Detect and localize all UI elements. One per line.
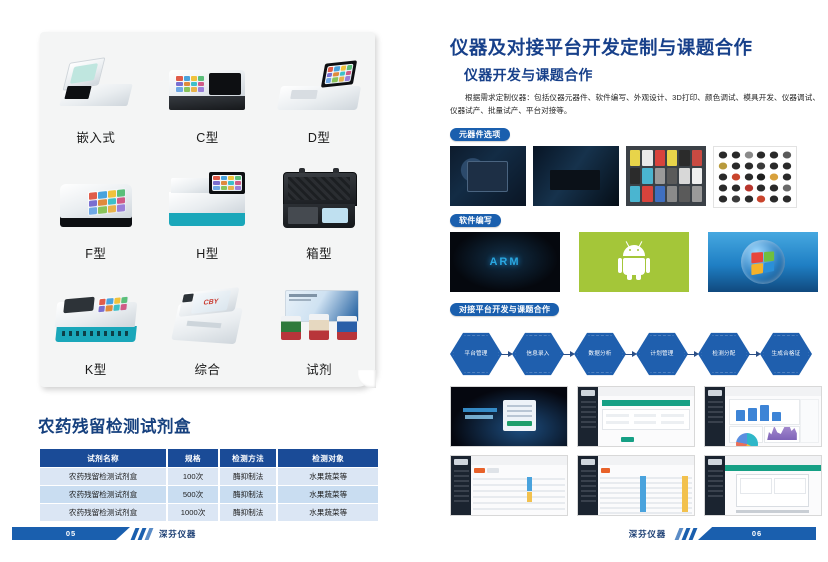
- section-pill-components: 元器件选项: [450, 128, 510, 141]
- page-number: 05: [66, 529, 76, 538]
- page-number-badge: 05: [12, 527, 130, 540]
- section-pill-software: 软件编写: [450, 214, 501, 227]
- table-cell: 农药残留检测试剂盒: [40, 504, 166, 521]
- report-detail-screen-thumb: [704, 455, 822, 516]
- workflow-diagram: 平台管理 信息录入 数据分析 计划管理 检测分配: [450, 330, 822, 378]
- product-cell[interactable]: CBY 综合: [152, 268, 264, 384]
- flow-step-label: 信息录入: [522, 351, 553, 357]
- reagent-kit-icon: [271, 282, 367, 356]
- flow-step-label: 检测分配: [708, 351, 739, 357]
- table-cell: 100次: [168, 468, 218, 485]
- product-cell[interactable]: F型: [40, 152, 152, 268]
- instrument-h-icon: [159, 166, 255, 240]
- page-title: 仪器及对接平台开发定制与课题合作: [450, 34, 752, 60]
- section-paragraph: 根据需求定制仪器：包括仪器元器件、软件编写、外观设计、3D打印、颜色调试、模具开…: [450, 92, 820, 117]
- arm-logo-text: ARM: [450, 256, 560, 268]
- table-cell: 农药残留检测试剂盒: [40, 468, 166, 485]
- flow-step[interactable]: 检测分配: [698, 332, 750, 376]
- product-cell[interactable]: C型: [152, 36, 264, 152]
- flow-step-label: 数据分析: [584, 351, 615, 357]
- data-grid-screen-thumb: [577, 455, 695, 516]
- table-row: 农药残留检测试剂盒 1000次 酶抑制法 水果蔬菜等: [40, 504, 378, 521]
- flow-step-label: 平台管理: [460, 351, 491, 357]
- instrument-embedded-icon: [48, 50, 144, 124]
- instrument-d-icon: [271, 50, 367, 124]
- software-logo-row: ARM: [450, 232, 818, 292]
- product-grid: 嵌入式 C型: [40, 36, 375, 384]
- product-cell[interactable]: H型: [152, 152, 264, 268]
- flow-step[interactable]: 平台管理: [450, 332, 502, 376]
- flow-step[interactable]: 信息录入: [512, 332, 564, 376]
- product-label: H型: [196, 243, 219, 262]
- footer-left: 05 深芬仪器: [12, 527, 196, 540]
- windows-logo-image: [708, 232, 818, 292]
- table-cell: 农药残留检测试剂盒: [40, 486, 166, 503]
- product-label: 试剂: [306, 359, 332, 378]
- flow-step-label: 生成合格证: [768, 351, 805, 357]
- product-cell[interactable]: 嵌入式: [40, 36, 152, 152]
- product-cell[interactable]: 箱型: [263, 152, 375, 268]
- platform-screenshot-grid: [450, 386, 822, 516]
- pcb-board-image: [533, 146, 619, 206]
- product-label: 嵌入式: [76, 127, 115, 146]
- product-label: C型: [196, 127, 219, 146]
- section-subtitle: 仪器开发与课题合作: [464, 65, 593, 85]
- product-label: 箱型: [306, 243, 332, 262]
- android-logo-image: [579, 232, 689, 292]
- product-cell[interactable]: K型: [40, 268, 152, 384]
- instrument-k-icon: [48, 282, 144, 356]
- instrument-case-icon: [271, 166, 367, 240]
- product-label: F型: [85, 243, 106, 262]
- section-pill-platform: 对接平台开发与课题合作: [450, 303, 559, 316]
- table-header-cell: 检测对象: [278, 449, 378, 467]
- component-panel-image: [626, 146, 706, 206]
- product-label: D型: [308, 127, 331, 146]
- right-page: 仪器及对接平台开发定制与课题合作 仪器开发与课题合作 根据需求定制仪器：包括仪器…: [414, 0, 828, 562]
- flow-step[interactable]: 数据分析: [574, 332, 626, 376]
- table-row: 农药残留检测试剂盒 100次 酶抑制法 水果蔬菜等: [40, 468, 378, 485]
- flow-step[interactable]: 生成合格证: [760, 332, 812, 376]
- table-cell: 酶抑制法: [220, 468, 276, 485]
- product-showcase-card: 嵌入式 C型: [40, 32, 375, 387]
- brand-name: 深芬仪器: [159, 528, 196, 540]
- chip-closeup-image: [450, 146, 526, 206]
- table-cell: 酶抑制法: [220, 504, 276, 521]
- table-header-cell: 试剂名称: [40, 449, 166, 467]
- table-cell: 水果蔬菜等: [278, 468, 378, 485]
- reagent-table-title: 农药残留检测试剂盒: [38, 413, 191, 437]
- form-entry-screen-thumb: [577, 386, 695, 447]
- table-cell: 500次: [168, 486, 218, 503]
- instrument-c-icon: [159, 50, 255, 124]
- arm-logo-image: ARM: [450, 232, 560, 292]
- table-cell: 水果蔬菜等: [278, 486, 378, 503]
- list-table-screen-thumb: [450, 455, 568, 516]
- table-header-cell: 规格: [168, 449, 218, 467]
- table-cell: 酶抑制法: [220, 486, 276, 503]
- instrument-integrated-icon: CBY: [159, 282, 255, 356]
- table-cell: 水果蔬菜等: [278, 504, 378, 521]
- instrument-f-icon: [48, 166, 144, 240]
- table-cell: 1000次: [168, 504, 218, 521]
- product-label: 综合: [194, 359, 220, 378]
- reagent-table: 试剂名称 规格 检测方法 检测对象 农药残留检测试剂盒 100次 酶抑制法 水果…: [38, 448, 380, 522]
- brochure-page: 嵌入式 C型: [0, 0, 828, 562]
- table-header-row: 试剂名称 规格 检测方法 检测对象: [40, 449, 378, 467]
- windows-orb-icon: [741, 240, 785, 284]
- page-number-badge: 06: [698, 527, 816, 540]
- left-page: 嵌入式 C型: [0, 0, 414, 562]
- product-cell[interactable]: 试剂: [263, 268, 375, 384]
- component-image-row: [450, 146, 797, 208]
- footer-right: 深芬仪器 06: [629, 527, 816, 540]
- flow-step-label: 计划管理: [646, 351, 677, 357]
- android-robot-icon: [619, 245, 649, 279]
- brand-name: 深芬仪器: [629, 528, 666, 540]
- table-header-cell: 检测方法: [220, 449, 276, 467]
- product-label: K型: [85, 359, 107, 378]
- dashboard-charts-screen-thumb: [704, 386, 822, 447]
- discrete-parts-image: [713, 146, 797, 208]
- table-row: 农药残留检测试剂盒 500次 酶抑制法 水果蔬菜等: [40, 486, 378, 503]
- flow-step[interactable]: 计划管理: [636, 332, 688, 376]
- page-number: 06: [752, 529, 762, 538]
- login-screen-thumb: [450, 386, 568, 447]
- product-cell[interactable]: D型: [263, 36, 375, 152]
